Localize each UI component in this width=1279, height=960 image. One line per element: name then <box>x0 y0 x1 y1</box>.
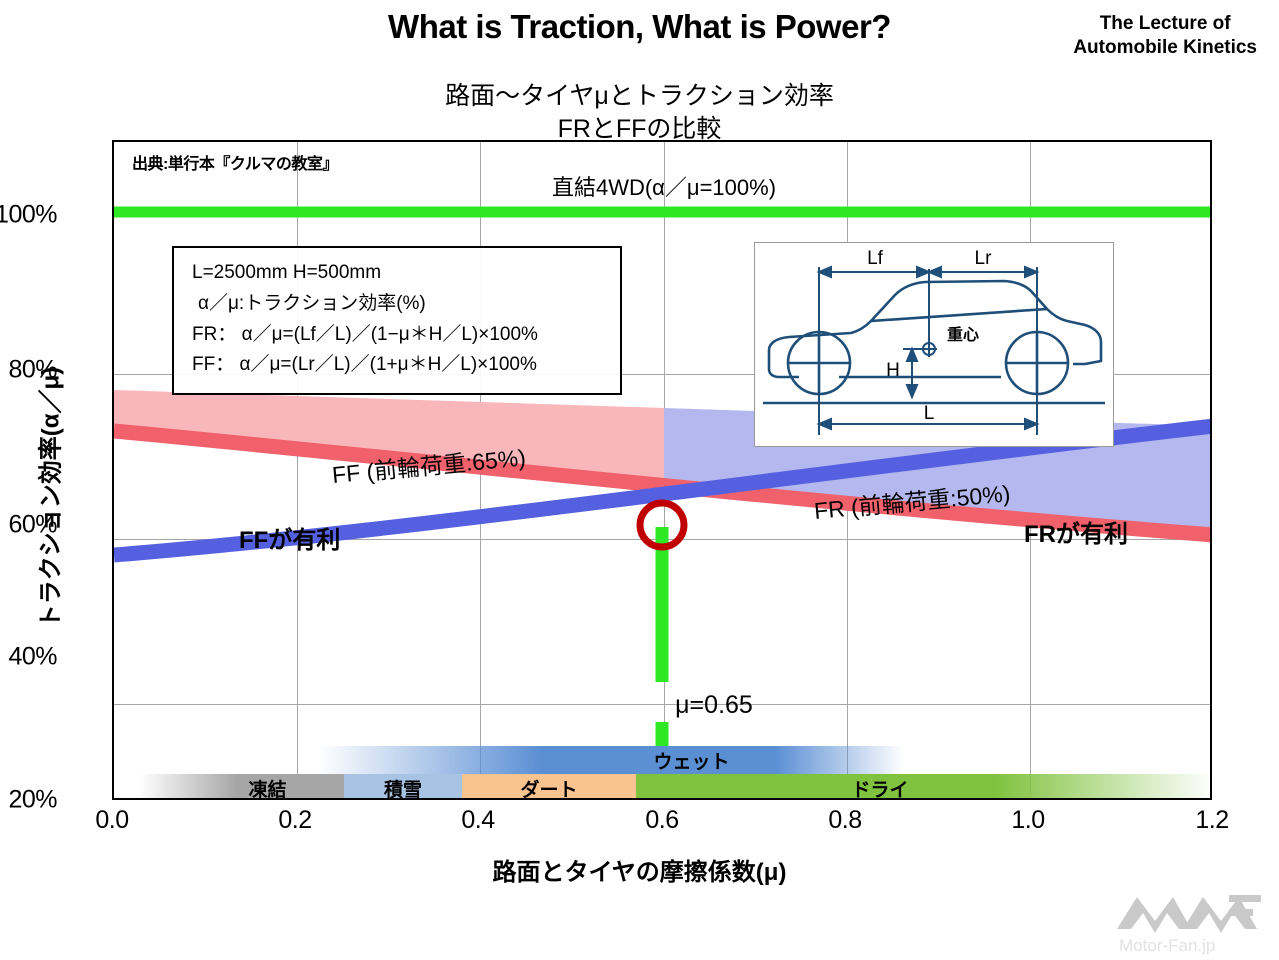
x-tick-0-8: 0.8 <box>805 806 885 835</box>
watermark-text: Motor-Fan.jp <box>1119 936 1215 955</box>
ff-advantage-label: FFが有利 <box>239 520 340 555</box>
x-tick-0-0: 0.0 <box>72 806 152 835</box>
car-label-lf: Lf <box>867 248 884 269</box>
car-diagram-svg: Lf Lr L H 重心 <box>755 243 1113 446</box>
car-label-h: H <box>886 360 900 381</box>
lecture-line-1: The Lecture of <box>1073 12 1257 36</box>
lecture-series-heading: The Lecture of Automobile Kinetics <box>1073 12 1257 61</box>
car-label-lr: Lr <box>975 248 993 269</box>
subtitle-line-1: 路面〜タイヤμとトラクション効率 <box>0 80 1279 113</box>
road-band-frozen-label: 凍結 <box>248 775 286 799</box>
road-band-dirt: ダート <box>462 774 636 798</box>
road-band-snow: 積雪 <box>344 774 462 798</box>
car-geometry-diagram: Lf Lr L H 重心 <box>754 242 1114 447</box>
fourwd-line-label: 直結4WD(α／μ=100%) <box>114 170 1210 202</box>
formula-line-1: L=2500mm H=500mm <box>192 258 606 289</box>
formula-line-2: α／μ:トラクション効率(%) <box>192 289 606 320</box>
mu-marker-label: μ=0.65 <box>614 691 814 720</box>
x-tick-1-0: 1.0 <box>988 806 1068 835</box>
car-label-l: L <box>924 403 935 424</box>
road-band-dirt-label: ダート <box>520 775 577 799</box>
plot-inner: 出典:単行本『クルマの教室』 直結4WD(α／μ=100%) L=2500mm … <box>114 142 1210 798</box>
x-tick-1-2: 1.2 <box>1172 806 1252 835</box>
x-tick-0-6: 0.6 <box>622 806 702 835</box>
fr-advantage-label: FRが有利 <box>1024 514 1128 549</box>
chart-plot-area: 出典:単行本『クルマの教室』 直結4WD(α／μ=100%) L=2500mm … <box>112 140 1212 800</box>
lecture-line-2: Automobile Kinetics <box>1073 36 1257 60</box>
road-band-dry: ドライ <box>636 774 1210 798</box>
formula-box: L=2500mm H=500mm α／μ:トラクション効率(%) FR： α／μ… <box>172 246 622 395</box>
formula-line-3: FR： α／μ=(Lf／L)／(1−μ＊H／L)×100% <box>192 320 606 351</box>
road-band-dry-label: ドライ <box>851 775 908 799</box>
road-band-snow-label: 積雪 <box>384 775 422 799</box>
road-band-frozen: 凍結 <box>139 774 344 798</box>
formula-line-4: FF： α／μ=(Lr／L)／(1+μ＊H／L)×100% <box>192 350 606 381</box>
road-band-wet-label: ウェット <box>653 747 729 774</box>
y-axis-title: トラクション効率(α／μ) <box>31 188 66 808</box>
mf-logo-icon: Motor-Fan.jp <box>1111 889 1271 955</box>
car-label-cog: 重心 <box>947 325 979 344</box>
chart-subtitle: 路面〜タイヤμとトラクション効率 FRとFFの比較 <box>0 80 1279 146</box>
road-band-wet: ウェット <box>319 746 904 774</box>
motor-fan-watermark: Motor-Fan.jp <box>1111 889 1271 955</box>
x-axis-title: 路面とタイヤの摩擦係数(μ) <box>0 852 1279 887</box>
x-tick-0-2: 0.2 <box>255 806 335 835</box>
x-tick-0-4: 0.4 <box>438 806 518 835</box>
